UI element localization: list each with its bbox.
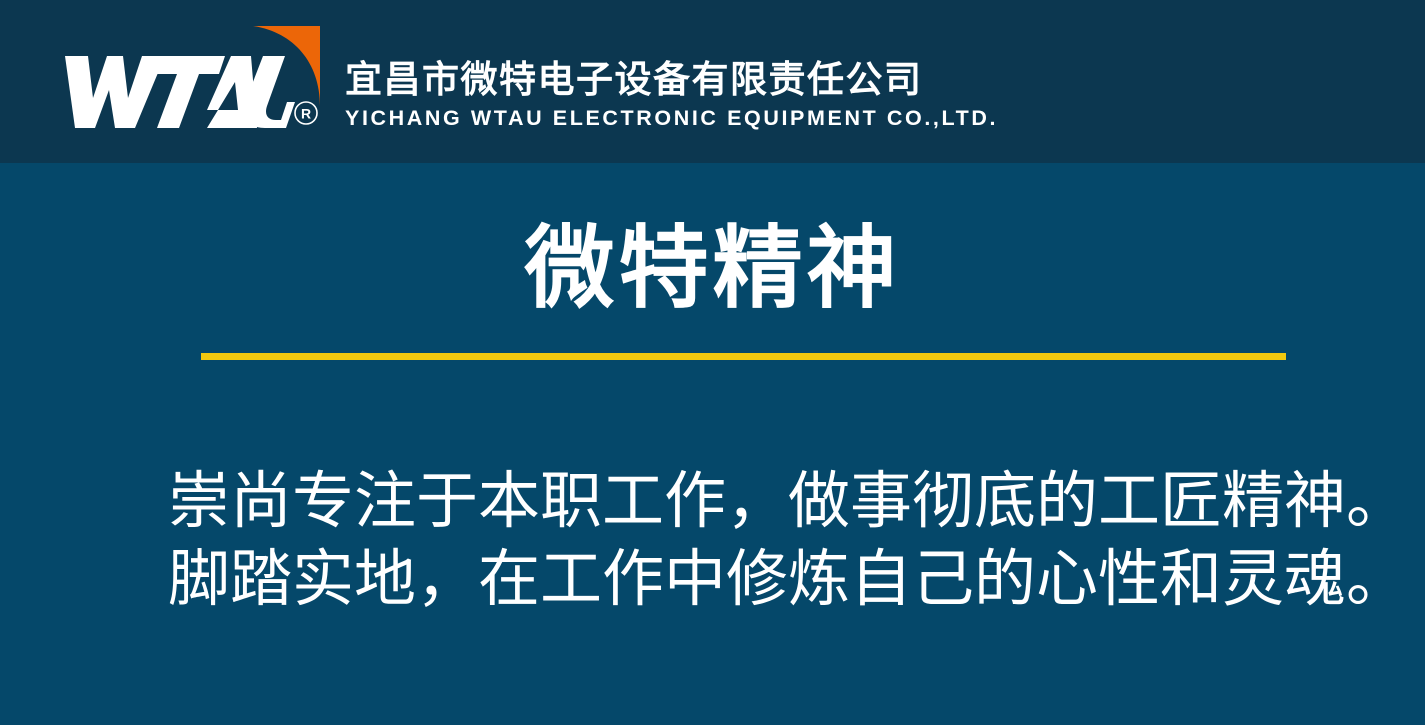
wtau-wordmark-icon xyxy=(55,54,295,130)
title-underline-rule xyxy=(201,353,1286,360)
registered-trademark-icon: R xyxy=(293,100,319,126)
body-text-block: 崇尚专注于本职工作，做事彻底的工匠精神。 脚踏实地，在工作中修炼自己的心性和灵魂… xyxy=(168,463,1283,619)
slide-root: R 宜昌市微特电子设备有限责任公司 YICHANG WTAU ELECTRONI… xyxy=(0,0,1425,725)
company-name-block: 宜昌市微特电子设备有限责任公司 YICHANG WTAU ELECTRONIC … xyxy=(345,58,985,132)
brand-block: R 宜昌市微特电子设备有限责任公司 YICHANG WTAU ELECTRONI… xyxy=(0,0,1425,163)
company-name-english: YICHANG WTAU ELECTRONIC EQUIPMENT CO.,LT… xyxy=(345,104,985,132)
wtau-logo: R xyxy=(55,14,325,134)
company-name-chinese: 宜昌市微特电子设备有限责任公司 xyxy=(345,58,985,102)
body-text-line-1: 崇尚专注于本职工作，做事彻底的工匠精神。 xyxy=(168,463,1283,541)
svg-text:R: R xyxy=(301,106,311,122)
body-text-line-2: 脚踏实地，在工作中修炼自己的心性和灵魂。 xyxy=(168,541,1283,619)
header-band: R 宜昌市微特电子设备有限责任公司 YICHANG WTAU ELECTRONI… xyxy=(0,0,1425,163)
main-content: 微特精神 崇尚专注于本职工作，做事彻底的工匠精神。 脚踏实地，在工作中修炼自己的… xyxy=(0,163,1425,725)
page-title: 微特精神 xyxy=(0,220,1425,318)
